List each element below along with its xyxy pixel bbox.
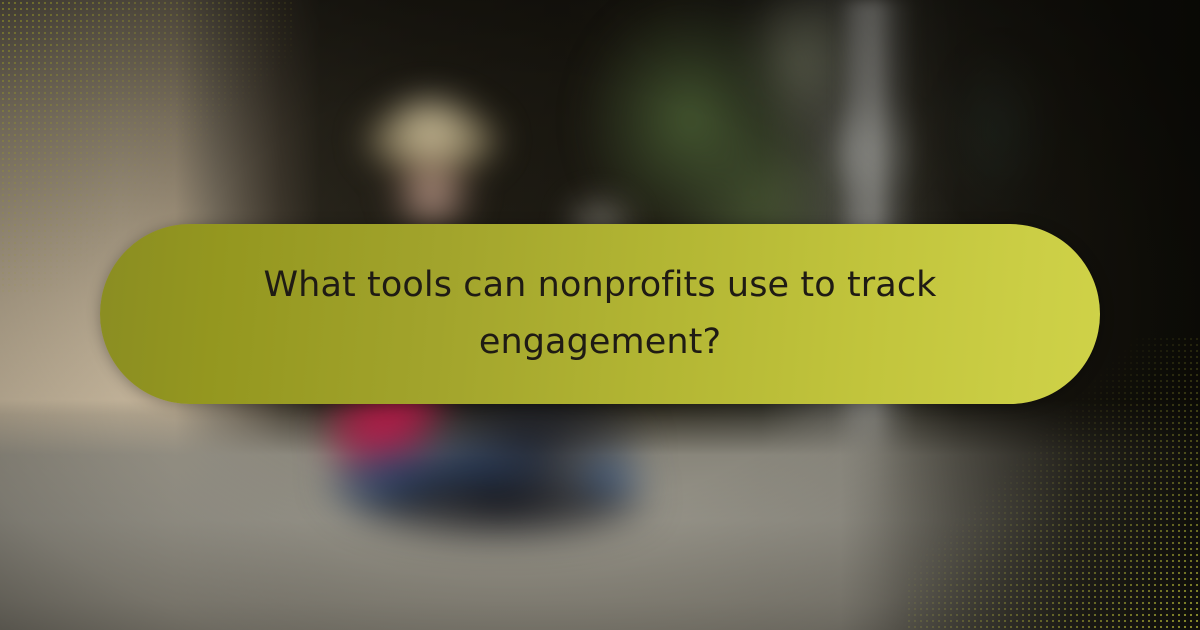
social-card: What tools can nonprofits use to track e… — [0, 0, 1200, 630]
question-banner: What tools can nonprofits use to track e… — [100, 224, 1100, 404]
question-headline: What tools can nonprofits use to track e… — [260, 257, 940, 370]
